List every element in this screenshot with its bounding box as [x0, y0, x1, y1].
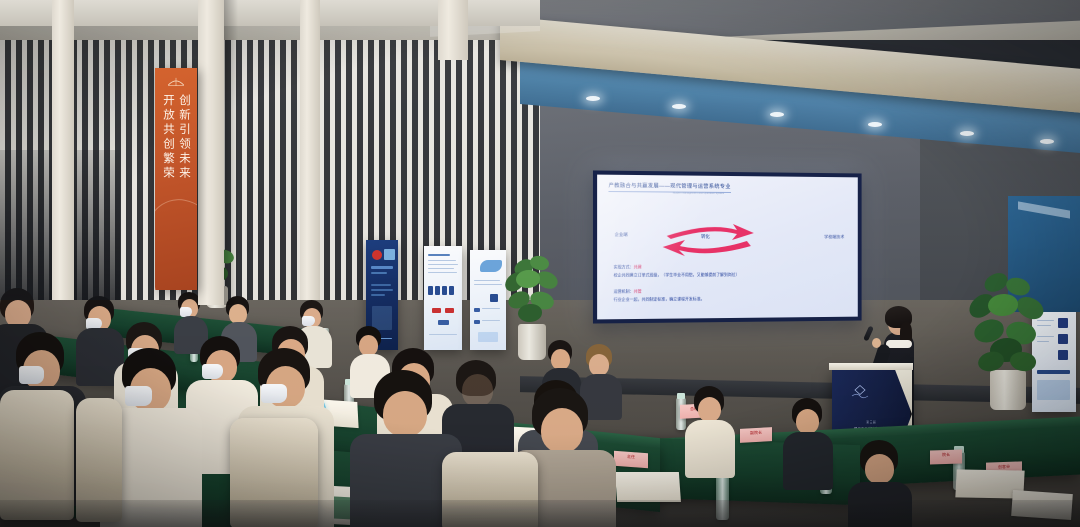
orange-vertical-banner: 创新引领未来 开放共创繁荣	[155, 68, 197, 290]
planter-right	[990, 370, 1026, 410]
downlight-4	[868, 122, 882, 127]
banner-line-2: 开放共创繁荣	[159, 94, 176, 181]
speaker-collar	[886, 340, 912, 348]
name-card-3: 院长	[930, 449, 962, 464]
bridge-emblem-icon	[167, 75, 185, 88]
bottle-cap-3	[677, 393, 685, 399]
planter-left	[518, 324, 546, 360]
banner-swoosh-graphic	[155, 188, 197, 290]
name-card-3-text: 院长	[930, 449, 962, 457]
conference-hall-photo: 创新引领未来 开放共创繁荣 产教融合与共赢发展——现代管理与运营系统专业 Mod…	[0, 0, 1080, 527]
podium-line-1: 第 三 届	[840, 420, 902, 424]
pillar-center	[198, 0, 224, 305]
downlight-1	[586, 96, 600, 101]
downlight-3	[770, 112, 784, 117]
name-card-5-text: 主任	[614, 451, 648, 460]
pillar-right	[300, 0, 320, 300]
paper-handout-3	[615, 472, 681, 502]
downlight-2	[672, 104, 686, 109]
foreground-blur-band	[0, 500, 1080, 527]
name-card-2-text: 副院长	[740, 427, 772, 436]
projection-screen-frame: 产教融合与共赢发展——现代管理与运营系统专业 Modern Management…	[593, 170, 862, 323]
pillar-center-shadow	[224, 0, 238, 305]
projection-screen: 产教融合与共赢发展——现代管理与运营系统专业 Modern Management…	[597, 175, 858, 320]
potted-plant-right	[966, 268, 1050, 410]
podium-top-surface	[829, 363, 913, 370]
banner-line-1: 创新引领未来	[175, 94, 192, 181]
name-card-5: 主任	[614, 451, 648, 468]
name-card-4-text: 创客谷	[986, 461, 1022, 469]
pillar-far	[438, 0, 468, 60]
downlight-5	[960, 131, 974, 136]
diamond-wave-logo-icon	[849, 384, 871, 400]
pillar-left	[52, 0, 74, 300]
downlight-6	[1040, 139, 1054, 144]
screen-glare	[597, 175, 858, 320]
speaker-hand	[872, 338, 881, 348]
name-card-2: 副院长	[740, 427, 772, 443]
rollup-banner-white-1	[424, 246, 462, 350]
